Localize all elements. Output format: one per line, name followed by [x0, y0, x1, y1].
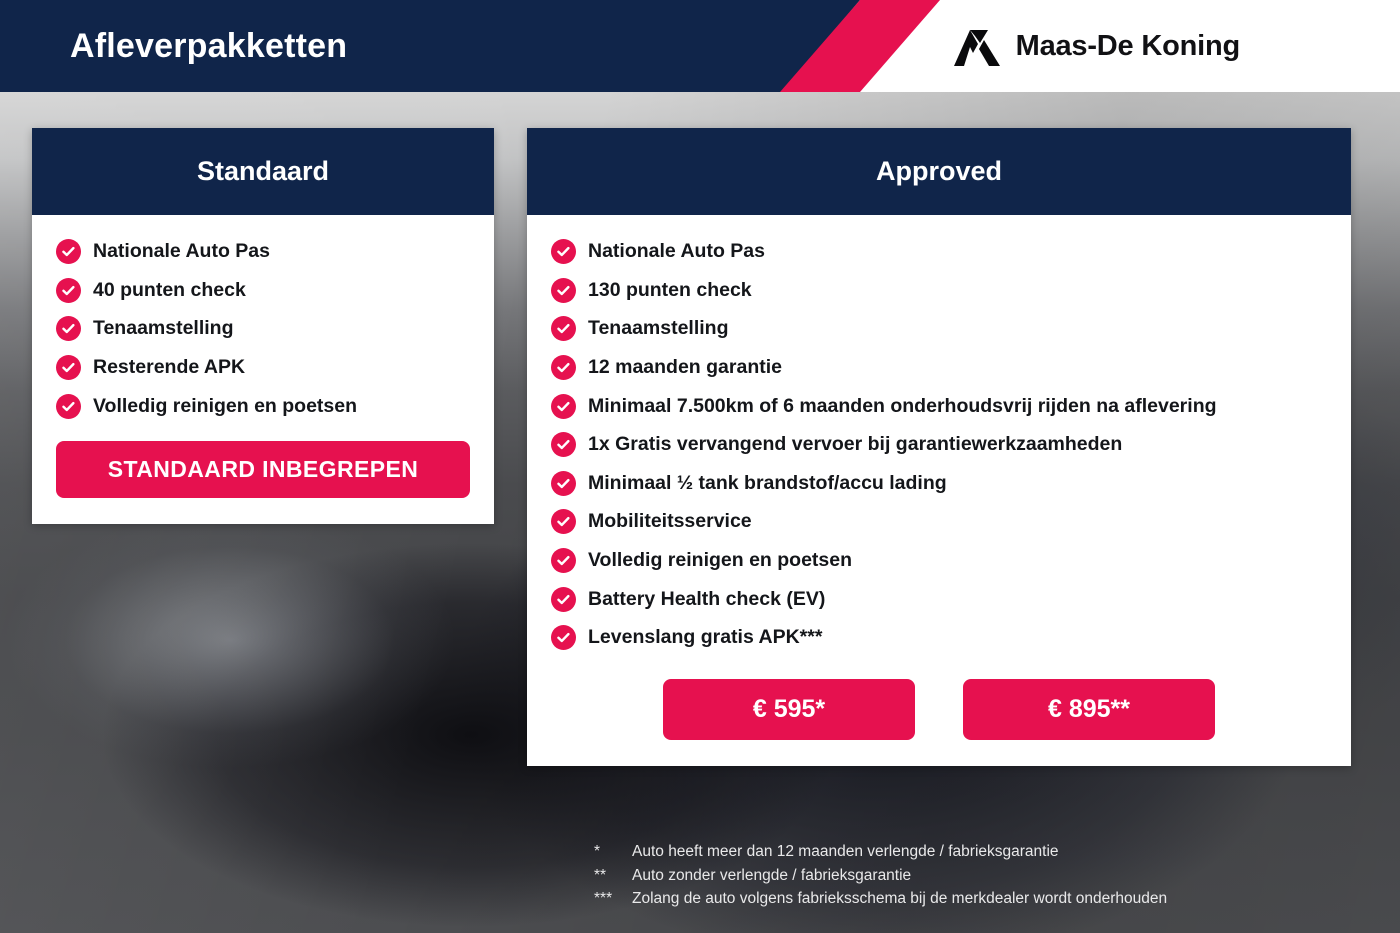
- feature-label: 130 punten check: [588, 276, 752, 306]
- check-circle-icon: [551, 394, 576, 419]
- check-circle-icon: [551, 509, 576, 534]
- feature-label: Mobiliteitsservice: [588, 507, 752, 537]
- page-title: Afleverpakketten: [70, 0, 347, 92]
- brand-logo: Maas-De Koning: [954, 0, 1240, 92]
- check-circle-icon: [551, 432, 576, 457]
- feature-label: 40 punten check: [93, 276, 246, 306]
- check-circle-icon: [56, 355, 81, 380]
- feature-label: Tenaamstelling: [93, 314, 234, 344]
- card-approved: Approved Nationale Auto Pas 130 punten c…: [527, 128, 1351, 766]
- card-standaard-body: Nationale Auto Pas 40 punten check Tenaa…: [32, 215, 494, 524]
- feature-label: 12 maanden garantie: [588, 353, 782, 383]
- angular-m-logo-icon: [954, 26, 1000, 66]
- footnote-1: * Auto heeft meer dan 12 maanden verleng…: [594, 840, 1167, 864]
- check-circle-icon: [551, 587, 576, 612]
- feature-list-standaard: Nationale Auto Pas 40 punten check Tenaa…: [56, 237, 470, 421]
- check-circle-icon: [56, 316, 81, 341]
- feature-label: Resterende APK: [93, 353, 245, 383]
- feature-label: 1x Gratis vervangend vervoer bij garanti…: [588, 430, 1122, 460]
- list-item: Resterende APK: [56, 353, 470, 383]
- list-item: Nationale Auto Pas: [551, 237, 1327, 267]
- check-circle-icon: [56, 278, 81, 303]
- brand-name: Maas-De Koning: [1016, 30, 1240, 63]
- footnotes: * Auto heeft meer dan 12 maanden verleng…: [594, 840, 1167, 911]
- list-item: 12 maanden garantie: [551, 353, 1327, 383]
- check-circle-icon: [551, 278, 576, 303]
- list-item: Volledig reinigen en poetsen: [56, 392, 470, 422]
- check-circle-icon: [56, 394, 81, 419]
- feature-label: Tenaamstelling: [588, 314, 729, 344]
- feature-label: Nationale Auto Pas: [93, 237, 270, 267]
- footnote-marker: ***: [594, 887, 632, 911]
- list-item: Nationale Auto Pas: [56, 237, 470, 267]
- list-item: Mobiliteitsservice: [551, 507, 1327, 537]
- feature-label: Volledig reinigen en poetsen: [93, 392, 357, 422]
- feature-label: Battery Health check (EV): [588, 585, 825, 615]
- list-item: Levenslang gratis APK***: [551, 623, 1327, 653]
- feature-label: Volledig reinigen en poetsen: [588, 546, 852, 576]
- footnote-text: Auto zonder verlengde / fabrieksgarantie: [632, 864, 911, 888]
- footnote-3: *** Zolang de auto volgens fabrieksschem…: [594, 887, 1167, 911]
- list-item: Minimaal 7.500km of 6 maanden onderhouds…: [551, 392, 1327, 422]
- standaard-included-button[interactable]: STANDAARD INBEGREPEN: [56, 441, 470, 498]
- check-circle-icon: [551, 355, 576, 380]
- page-header: Afleverpakketten Maas-De Koning: [0, 0, 1400, 92]
- footnote-marker: *: [594, 840, 632, 864]
- check-circle-icon: [551, 625, 576, 650]
- feature-list-approved: Nationale Auto Pas 130 punten check Tena…: [551, 237, 1327, 653]
- card-standaard-title: Standaard: [32, 128, 494, 215]
- footnote-text: Zolang de auto volgens fabrieksschema bi…: [632, 887, 1167, 911]
- list-item: Battery Health check (EV): [551, 585, 1327, 615]
- check-circle-icon: [551, 316, 576, 341]
- price-button-595[interactable]: € 595*: [663, 679, 915, 740]
- check-circle-icon: [56, 239, 81, 264]
- card-approved-body: Nationale Auto Pas 130 punten check Tena…: [527, 215, 1351, 766]
- price-button-row: € 595* € 895**: [551, 679, 1327, 740]
- feature-label: Minimaal 7.500km of 6 maanden onderhouds…: [588, 392, 1217, 422]
- check-circle-icon: [551, 471, 576, 496]
- list-item: 1x Gratis vervangend vervoer bij garanti…: [551, 430, 1327, 460]
- promo-page: Afleverpakketten Maas-De Koning Standaar…: [0, 0, 1400, 933]
- price-button-895[interactable]: € 895**: [963, 679, 1215, 740]
- card-standaard: Standaard Nationale Auto Pas 40 punten c…: [32, 128, 494, 524]
- list-item: 130 punten check: [551, 276, 1327, 306]
- feature-label: Minimaal ½ tank brandstof/accu lading: [588, 469, 947, 499]
- list-item: Tenaamstelling: [56, 314, 470, 344]
- list-item: Volledig reinigen en poetsen: [551, 546, 1327, 576]
- feature-label: Nationale Auto Pas: [588, 237, 765, 267]
- list-item: Tenaamstelling: [551, 314, 1327, 344]
- footnote-2: ** Auto zonder verlengde / fabrieksgaran…: [594, 864, 1167, 888]
- card-approved-title: Approved: [527, 128, 1351, 215]
- list-item: Minimaal ½ tank brandstof/accu lading: [551, 469, 1327, 499]
- footnote-text: Auto heeft meer dan 12 maanden verlengde…: [632, 840, 1059, 864]
- footnote-marker: **: [594, 864, 632, 888]
- check-circle-icon: [551, 548, 576, 573]
- list-item: 40 punten check: [56, 276, 470, 306]
- check-circle-icon: [551, 239, 576, 264]
- feature-label: Levenslang gratis APK***: [588, 623, 822, 653]
